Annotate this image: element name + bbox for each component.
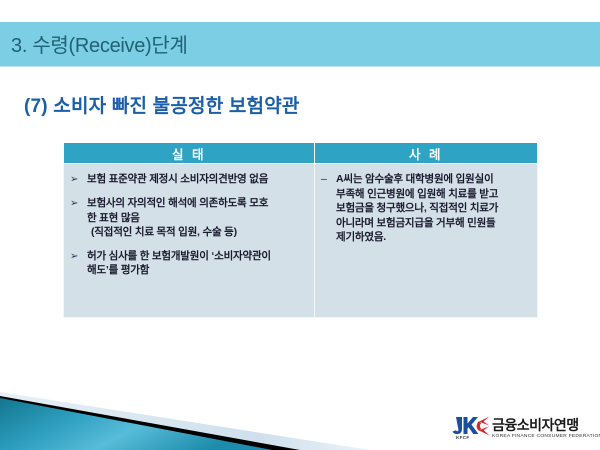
list-item-line: 한 표현 많음 [87,211,308,226]
arrow-bullet-icon: ➢ [70,196,87,211]
kfcf-logo-mark-icon: KFCF [452,415,490,443]
list-item-line: A씨는 암수술후 대학병원에 입원실이 [336,172,531,187]
logo-name-kr: 금융소비자연맹 [492,418,600,433]
organization-logo: KFCF 금융소비자연맹 KOREA FINANCE CONSUMER FEDE… [452,414,592,444]
dash-bullet-icon: – [321,172,336,187]
list-item: ➢ 허가 심사를 한 보험개발원이 ‘소비자약관이 해도’를 평가함 [70,249,308,278]
list-item: ➢ 보험 표준약관 제정시 소비자의견반영 없음 [70,172,308,187]
arrow-bullet-icon: ➢ [70,172,87,187]
logo-wordmark: 금융소비자연맹 KOREA FINANCE CONSUMER FEDERATIO… [492,418,600,440]
logo-abbrev: KFCF [456,435,469,440]
list-item-text: 허가 심사를 한 보험개발원이 ‘소비자약관이 해도’를 평가함 [87,249,308,278]
slide-subtitle: (7) 소비자 빠진 불공정한 보험약관 [24,91,300,118]
list-item-line: 제기하였음. [336,230,531,245]
column-header-status: 실 태 [64,143,315,164]
cell-status: ➢ 보험 표준약관 제정시 소비자의견반영 없음 ➢ 보험사의 자의적인 해석에… [64,164,315,318]
list-item-subline: (직접적인 치료 목적 입원, 수술 등) [87,225,308,240]
list-item-line: 허가 심사를 한 보험개발원이 ‘소비자약관이 [87,249,308,264]
list-item-line: 보험사의 자의적인 해석에 의존하도록 모호 [87,196,308,211]
cell-case: – A씨는 암수술후 대학병원에 입원실이 부족해 인근병원에 입원해 치료를 … [315,164,538,318]
list-item-line: 부족해 인근병원에 입원해 치료를 받고 [336,187,531,202]
slide-canvas: 3. 수령(Receive)단계 (7) 소비자 빠진 불공정한 보험약관 실 … [0,0,600,450]
list-item-line: 아니라며 보험금지급을 거부해 민원들 [336,216,531,231]
column-header-case: 사 례 [315,143,538,164]
page-title: 3. 수령(Receive)단계 [11,29,188,58]
list-item-line: 보험 표준약관 제정시 소비자의견반영 없음 [87,172,308,187]
list-item-text: 보험 표준약관 제정시 소비자의견반영 없음 [87,172,308,187]
table-row: ➢ 보험 표준약관 제정시 소비자의견반영 없음 ➢ 보험사의 자의적인 해석에… [64,164,538,318]
list-item: – A씨는 암수술후 대학병원에 입원실이 부족해 인근병원에 입원해 치료를 … [321,172,531,245]
title-band-underline [0,66,600,67]
list-item-line: 보험금을 청구했으나, 직접적인 치료가 [336,201,531,216]
list-item: ➢ 보험사의 자의적인 해석에 의존하도록 모호 한 표현 많음 (직접적인 치… [70,196,308,240]
content-table: 실 태 사 례 ➢ 보험 표준약관 제정시 소비자의견반영 없음 ➢ [63,142,538,318]
list-item-text: A씨는 암수술후 대학병원에 입원실이 부족해 인근병원에 입원해 치료를 받고… [336,172,531,245]
list-item-text: 보험사의 자의적인 해석에 의존하도록 모호 한 표현 많음 (직접적인 치료 … [87,196,308,240]
table-header-row: 실 태 사 례 [64,143,538,164]
list-item-line: 해도’를 평가함 [87,263,308,278]
arrow-bullet-icon: ➢ [70,249,87,264]
logo-name-en: KOREA FINANCE CONSUMER FEDERATION [492,433,600,440]
